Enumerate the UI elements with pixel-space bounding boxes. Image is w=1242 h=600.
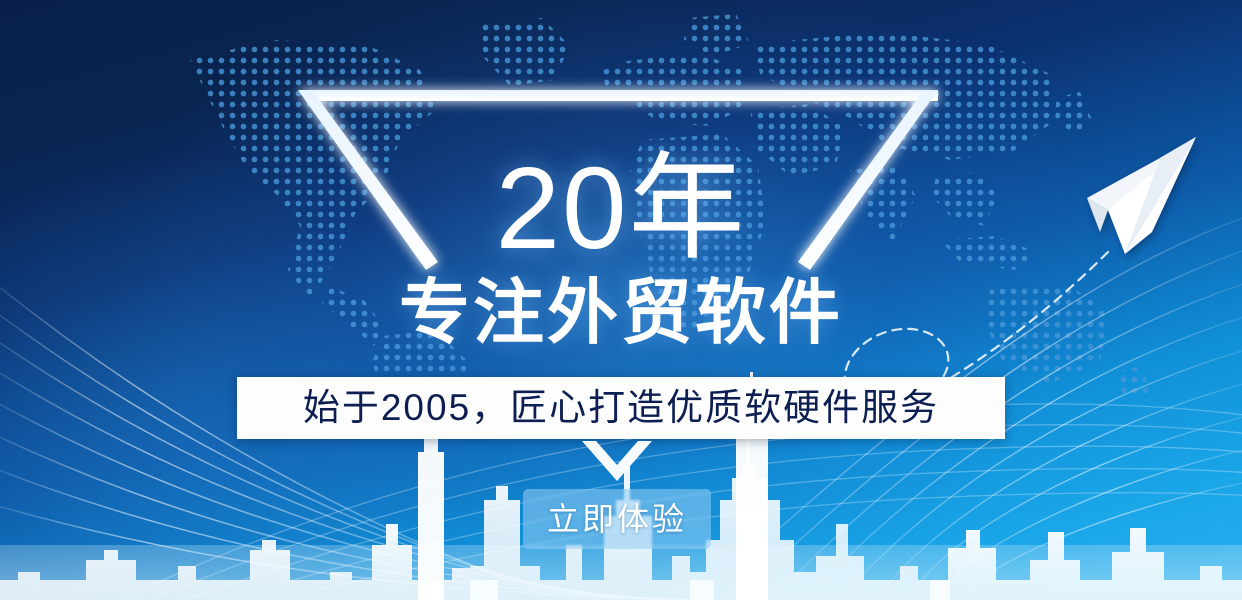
subtitle-box: 始于2005，匠心打造优质软硬件服务 <box>237 377 1005 439</box>
cta-label: 立即体验 <box>547 502 687 536</box>
banner-content: 20年 专注外贸软件 始于2005，匠心打造优质软硬件服务 立即体验 <box>0 0 1242 600</box>
cta-experience-now-button[interactable]: 立即体验 <box>523 489 711 549</box>
chevron-down-icon <box>578 441 656 493</box>
subtitle-text: 始于2005，匠心打造优质软硬件服务 <box>303 388 939 428</box>
headline-year: 20年 <box>0 150 1242 266</box>
promo-banner: 20年 专注外贸软件 始于2005，匠心打造优质软硬件服务 立即体验 <box>0 0 1242 600</box>
headline-main: 专注外贸软件 <box>0 277 1242 351</box>
